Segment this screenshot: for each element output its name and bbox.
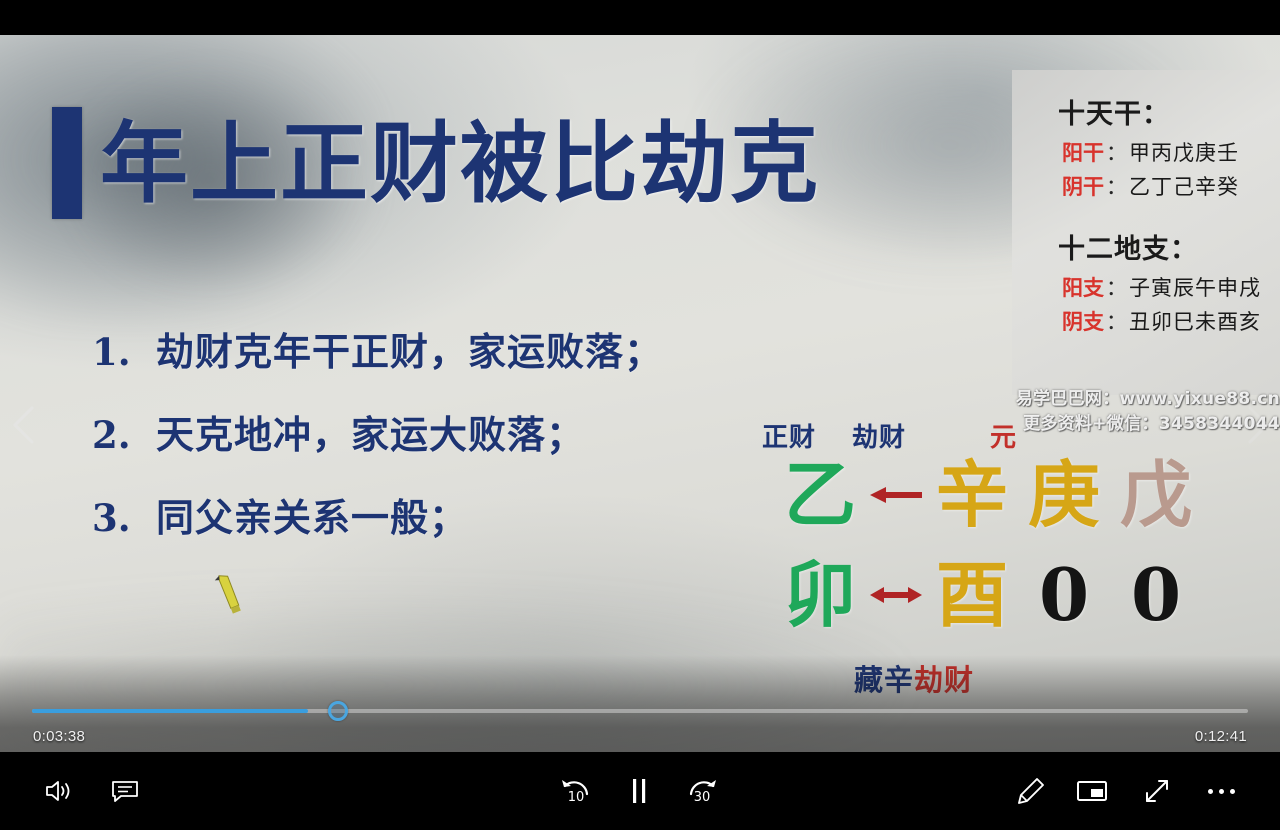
title-accent-bar	[52, 107, 82, 219]
slide-bullet-list: 1. 劫财克年干正财，家运败落； 2. 天克地冲，家运大败落； 3. 同父亲关系…	[92, 321, 663, 542]
branches-yin-tag: 阴支	[1062, 306, 1104, 336]
forward-30-button[interactable]: 30	[673, 752, 731, 830]
list-item: 2. 天克地冲，家运大败落；	[92, 404, 663, 459]
stems-heading: 十天干：	[1058, 92, 1266, 131]
reference-panel: 十天干： 阳干 ： 甲丙戊庚壬 阴干 ： 乙丁己辛癸 十二地支： 阳支 ： 子寅…	[1012, 70, 1280, 395]
video-stage[interactable]: 年上正财被比劫克 1. 劫财克年干正财，家运败落； 2. 天克地冲，家运大败落；…	[0, 35, 1280, 752]
stems-yin-colon: ：	[1106, 171, 1127, 201]
list-item-number: 3.	[92, 496, 134, 540]
double-arrow-icon	[866, 584, 926, 606]
progress-fill	[32, 709, 308, 713]
chart-label-jiecai: 劫财	[852, 417, 906, 454]
stems-yin-row: 阴干 ： 乙丁己辛癸	[1062, 171, 1266, 201]
slide-title: 年上正财被比劫克	[100, 119, 820, 207]
progress-area: 0:03:38 0:12:41	[0, 690, 1280, 752]
mini-player-button[interactable]	[1063, 752, 1121, 830]
branches-heading: 十二地支：	[1058, 227, 1266, 266]
chart-label-row: 正财 劫财	[762, 417, 906, 454]
branches-yang-colon: ：	[1106, 272, 1127, 302]
fullscreen-button[interactable]	[1128, 752, 1186, 830]
stems-yin-value: 乙丁己辛癸	[1129, 171, 1239, 201]
video-player-window: 年上正财被比劫克 1. 劫财克年干正财，家运败落； 2. 天克地冲，家运大败落；…	[0, 0, 1280, 830]
fullscreen-icon	[1143, 777, 1171, 805]
seek-thumb[interactable]	[328, 701, 348, 721]
control-bar: 10 30	[0, 752, 1280, 830]
branches-yang-row: 阳支 ： 子寅辰午申戌	[1062, 272, 1266, 302]
list-item-text: 天克地冲，家运大败落；	[156, 404, 585, 459]
volume-icon	[44, 778, 74, 804]
list-item: 1. 劫财克年干正财，家运败落；	[92, 321, 663, 376]
stem-char-3: 庚	[1018, 459, 1110, 531]
chart-label-zhengcai: 正财	[762, 417, 816, 454]
branch-char-2: 酉	[926, 559, 1018, 631]
stems-yang-colon: ：	[1106, 137, 1127, 167]
next-chevron-icon[interactable]	[1240, 403, 1274, 447]
seek-bar[interactable]	[32, 709, 1248, 713]
branches-yin-row: 阴支 ： 丑卯巳未酉亥	[1062, 306, 1266, 336]
left-arrow-icon	[866, 484, 926, 506]
play-pause-button[interactable]	[610, 752, 668, 830]
branch-char-3: 0	[1018, 559, 1110, 631]
pause-icon	[628, 777, 650, 805]
list-item-text: 同父亲关系一般；	[156, 487, 468, 542]
captions-button[interactable]	[96, 752, 154, 830]
previous-chevron-icon[interactable]	[8, 403, 42, 447]
stem-char-4: 戊	[1110, 459, 1202, 531]
branches-yin-colon: ：	[1106, 306, 1127, 336]
forward-30-icon	[684, 775, 720, 807]
chart-branch-row: 卯 酉 0 0	[774, 559, 1202, 631]
ink-button[interactable]	[1002, 752, 1060, 830]
letterbox-top	[0, 0, 1280, 35]
rewind-10-button[interactable]: 10	[547, 752, 605, 830]
branch-char-4: 0	[1110, 559, 1202, 631]
list-item: 3. 同父亲关系一般；	[92, 487, 663, 542]
branches-yin-value: 丑卯巳未酉亥	[1129, 306, 1261, 336]
stem-char-1: 乙	[774, 459, 866, 531]
total-time-label: 0:12:41	[1195, 728, 1247, 745]
rewind-10-icon	[558, 775, 594, 807]
stems-yang-row: 阳干 ： 甲丙戊庚壬	[1062, 137, 1266, 167]
stems-yang-value: 甲丙戊庚壬	[1129, 137, 1239, 167]
branches-yang-tag: 阳支	[1062, 272, 1104, 302]
captions-icon	[110, 778, 140, 804]
current-time-label: 0:03:38	[33, 728, 85, 745]
branch-char-1: 卯	[774, 559, 866, 631]
volume-button[interactable]	[30, 752, 88, 830]
list-item-number: 2.	[92, 413, 134, 457]
chart-stem-row: 乙 辛 庚 戊	[774, 459, 1202, 531]
reference-panel-spacer	[1058, 205, 1266, 227]
stem-char-2: 辛	[926, 459, 1018, 531]
stems-yin-tag: 阴干	[1062, 171, 1104, 201]
list-item-number: 1.	[92, 330, 134, 374]
branches-yang-value: 子寅辰午申戌	[1129, 272, 1261, 302]
bazi-chart: 正财 劫财 元 乙 辛 庚 戊 卯	[762, 417, 1182, 707]
list-item-text: 劫财克年干正财，家运败落；	[156, 321, 663, 376]
more-options-button[interactable]	[1192, 752, 1250, 830]
chart-label-yuan: 元	[990, 417, 1017, 454]
more-icon	[1208, 789, 1235, 794]
pencil-icon	[1016, 776, 1046, 806]
slide-title-row: 年上正财被比劫克	[52, 107, 820, 219]
mini-player-icon	[1076, 779, 1108, 803]
stems-yang-tag: 阳干	[1062, 137, 1104, 167]
